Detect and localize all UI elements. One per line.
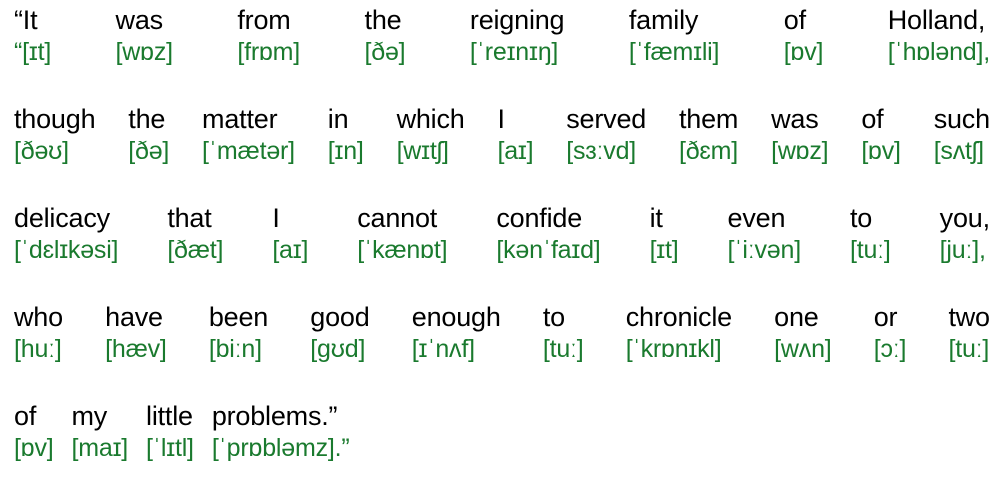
word-block: of[ɒv]: [784, 4, 824, 68]
word-block: confide[kənˈfaɪd]: [496, 202, 600, 266]
word-ipa-transcription: [kənˈfaɪd]: [496, 235, 600, 266]
text-line-2: though[ðəʊ]the[ðə]matter[ˈmætər]in[ɪn]wh…: [14, 103, 990, 202]
word-orthography: which: [397, 103, 465, 136]
word-block: in[ɪn]: [328, 103, 364, 167]
word-ipa-transcription: [ˈreɪnɪŋ]: [470, 37, 558, 68]
word-block: the[ðə]: [128, 103, 169, 167]
word-orthography: was: [771, 103, 818, 136]
text-line-3: delicacy[ˈdɛlɪkəsi]that[ðæt]I[aɪ]cannot[…: [14, 202, 990, 301]
word-ipa-transcription: [ɒv]: [784, 37, 824, 68]
word-orthography: matter: [202, 103, 277, 136]
text-line-4: who[huː]have[hæv]been[biːn]good[gʊd]enou…: [14, 301, 990, 400]
word-ipa-transcription: [aɪ]: [497, 136, 533, 167]
word-orthography: I: [497, 103, 504, 136]
word-ipa-transcription: [ɒv]: [861, 136, 901, 167]
word-ipa-transcription: [ˈiːvən]: [728, 235, 801, 266]
word-block: was[wɒz]: [771, 103, 828, 167]
word-orthography: of: [14, 400, 36, 433]
word-block: even[ˈiːvən]: [728, 202, 801, 266]
word-ipa-transcription: [ðə]: [365, 37, 406, 68]
word-block: which[wɪtʃ]: [397, 103, 465, 167]
word-ipa-transcription: [biːn]: [209, 334, 262, 365]
word-ipa-transcription: [ɒv]: [14, 433, 54, 464]
word-ipa-transcription: [tuː]: [948, 334, 989, 365]
word-ipa-transcription: [aɪ]: [272, 235, 308, 266]
word-block: two[tuː]: [948, 301, 989, 365]
word-orthography: been: [209, 301, 268, 334]
word-ipa-transcription: [ˈkrɒnɪkl]: [626, 334, 722, 365]
word-ipa-transcription: [tuː]: [850, 235, 891, 266]
word-orthography: it: [650, 202, 663, 235]
word-block: good[gʊd]: [310, 301, 369, 365]
word-orthography: my: [72, 400, 108, 433]
text-line-5: of[ɒv]my[maɪ]little[ˈlɪtl]problems.”[ˈpr…: [14, 400, 990, 499]
word-orthography: confide: [496, 202, 582, 235]
word-orthography: served: [566, 103, 646, 136]
word-orthography: have: [105, 301, 163, 334]
word-block: to[tuː]: [850, 202, 891, 266]
word-ipa-transcription: [frɒm]: [237, 37, 300, 68]
word-block: one[wʌn]: [774, 301, 831, 365]
word-ipa-transcription: [gʊd]: [310, 334, 365, 365]
word-orthography: the: [128, 103, 165, 136]
word-ipa-transcription: [hæv]: [105, 334, 167, 365]
word-ipa-transcription: [tuː]: [543, 334, 584, 365]
word-block: matter[ˈmætər]: [202, 103, 295, 167]
word-orthography: good: [310, 301, 369, 334]
word-ipa-transcription: [ɪˈnʌf]: [412, 334, 475, 365]
word-ipa-transcription: [ˈmætər]: [202, 136, 295, 167]
word-orthography: Holland,: [888, 4, 985, 37]
word-ipa-transcription: [ˈfæmɪli]: [629, 37, 719, 68]
word-block: of[ɒv]: [14, 400, 54, 464]
word-orthography: from: [237, 4, 290, 37]
word-ipa-transcription: [ˈlɪtl]: [146, 433, 194, 464]
word-block: was[wɒz]: [116, 4, 173, 68]
word-orthography: little: [146, 400, 193, 433]
word-ipa-transcription: [wʌn]: [774, 334, 831, 365]
word-orthography: though: [14, 103, 95, 136]
word-ipa-transcription: [ɪt]: [650, 235, 679, 266]
word-ipa-transcription: [juː],: [940, 235, 986, 266]
word-orthography: to: [543, 301, 565, 334]
word-orthography: of: [784, 4, 806, 37]
word-orthography: I: [272, 202, 279, 235]
word-block: such[sʌtʃ]: [934, 103, 990, 167]
word-ipa-transcription: [huː]: [14, 334, 62, 365]
word-block: delicacy[ˈdɛlɪkəsi]: [14, 202, 118, 266]
word-block: “It“[ɪt]: [14, 4, 51, 68]
word-block: Holland,[ˈhɒlənd],: [888, 4, 990, 68]
word-block: who[huː]: [14, 301, 63, 365]
word-orthography: delicacy: [14, 202, 110, 235]
word-block: have[hæv]: [105, 301, 167, 365]
word-ipa-transcription: [wɪtʃ]: [397, 136, 449, 167]
word-block: I[aɪ]: [497, 103, 533, 167]
word-ipa-transcription: [ˈdɛlɪkəsi]: [14, 235, 118, 266]
word-block: enough[ɪˈnʌf]: [412, 301, 501, 365]
word-ipa-transcription: [wɒz]: [116, 37, 173, 68]
word-ipa-transcription: [sʌtʃ]: [934, 136, 984, 167]
text-line-1: “It“[ɪt]was[wɒz]from[frɒm]the[ðə]reignin…: [14, 4, 990, 103]
word-orthography: reigning: [470, 4, 564, 37]
word-ipa-transcription: [ðə]: [128, 136, 169, 167]
word-ipa-transcription: [ˈkænɒt]: [357, 235, 447, 266]
word-orthography: chronicle: [626, 301, 732, 334]
word-ipa-transcription: [maɪ]: [72, 433, 129, 464]
word-orthography: the: [365, 4, 402, 37]
word-orthography: or: [874, 301, 898, 334]
word-orthography: them: [679, 103, 738, 136]
word-ipa-transcription: [ðəʊ]: [14, 136, 69, 167]
word-block: problems.”[ˈprɒbləmz].”: [212, 400, 350, 464]
word-ipa-transcription: [ɔː]: [874, 334, 907, 365]
word-block: little[ˈlɪtl]: [146, 400, 194, 464]
word-orthography: family: [629, 4, 698, 37]
interlinear-page: “It“[ɪt]was[wɒz]from[frɒm]the[ðə]reignin…: [0, 0, 1000, 460]
word-ipa-transcription: [ðɛm]: [679, 136, 738, 167]
word-orthography: such: [934, 103, 990, 136]
word-orthography: even: [728, 202, 786, 235]
word-orthography: to: [850, 202, 872, 235]
word-orthography: problems.”: [212, 400, 338, 433]
word-orthography: one: [774, 301, 818, 334]
word-block: or[ɔː]: [874, 301, 907, 365]
word-orthography: in: [328, 103, 349, 136]
word-ipa-transcription: [ðæt]: [167, 235, 223, 266]
word-ipa-transcription: [ɪn]: [328, 136, 364, 167]
word-ipa-transcription: [wɒz]: [771, 136, 828, 167]
word-block: though[ðəʊ]: [14, 103, 95, 167]
word-block: from[frɒm]: [237, 4, 300, 68]
word-orthography: of: [861, 103, 883, 136]
word-block: reigning[ˈreɪnɪŋ]: [470, 4, 564, 68]
word-orthography: you,: [940, 202, 990, 235]
word-block: that[ðæt]: [167, 202, 223, 266]
word-orthography: cannot: [357, 202, 437, 235]
word-block: it[ɪt]: [650, 202, 679, 266]
word-ipa-transcription: [ˈprɒbləmz].”: [212, 433, 350, 464]
word-block: my[maɪ]: [72, 400, 129, 464]
word-block: served[sɜːvd]: [566, 103, 646, 167]
word-block: been[biːn]: [209, 301, 268, 365]
word-block: family[ˈfæmɪli]: [629, 4, 719, 68]
word-block: of[ɒv]: [861, 103, 901, 167]
word-block: I[aɪ]: [272, 202, 308, 266]
word-orthography: was: [116, 4, 163, 37]
word-block: chronicle[ˈkrɒnɪkl]: [626, 301, 732, 365]
word-orthography: two: [948, 301, 989, 334]
word-ipa-transcription: [ˈhɒlənd],: [888, 37, 990, 68]
word-block: the[ðə]: [365, 4, 406, 68]
word-orthography: “It: [14, 4, 37, 37]
word-block: to[tuː]: [543, 301, 584, 365]
word-ipa-transcription: “[ɪt]: [14, 37, 51, 68]
word-orthography: who: [14, 301, 63, 334]
word-block: them[ðɛm]: [679, 103, 738, 167]
word-orthography: that: [167, 202, 211, 235]
word-block: cannot[ˈkænɒt]: [357, 202, 447, 266]
word-ipa-transcription: [sɜːvd]: [566, 136, 636, 167]
word-orthography: enough: [412, 301, 501, 334]
word-block: you,[juː],: [940, 202, 990, 266]
